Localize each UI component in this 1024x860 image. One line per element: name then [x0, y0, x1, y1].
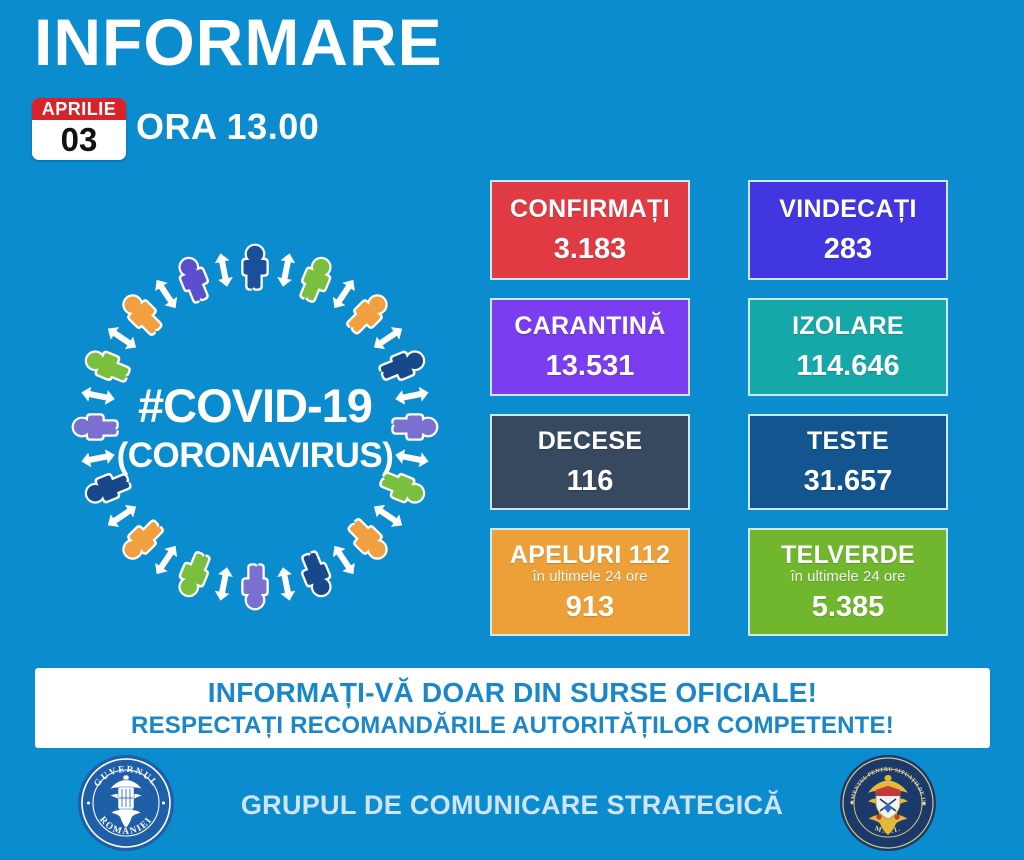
header: INFORMARE APRILIE 03 ORA 13.00 — [0, 0, 1024, 180]
time-label: ORA 13.00 — [136, 106, 319, 148]
stat-value: 13.531 — [546, 352, 635, 381]
stat-value: 31.657 — [804, 467, 893, 496]
stats-grid: CONFIRMAȚI 3.183 VINDECAȚI 283 CARANTINĂ… — [490, 180, 950, 648]
stat-value: 116 — [567, 467, 614, 496]
stat-card-carantina: CARANTINĂ 13.531 — [490, 298, 690, 396]
stat-value: 3.183 — [554, 235, 627, 264]
stat-card-confirmati: CONFIRMAȚI 3.183 — [490, 180, 690, 280]
stat-value: 5.385 — [812, 593, 885, 622]
circle-people-svg — [40, 212, 470, 642]
stat-value: 114.646 — [796, 352, 899, 381]
date-badge-day: 03 — [32, 121, 126, 160]
page-title: INFORMARE — [34, 8, 443, 77]
stat-label: TESTE — [807, 428, 889, 454]
notice-line-1: INFORMAȚI-VĂ DOAR DIN SURSE OFICIALE! — [208, 677, 817, 709]
stat-label: CARANTINĂ — [514, 313, 665, 339]
stat-label: IZOLARE — [792, 313, 904, 339]
stat-sublabel: în ultimele 24 ore — [532, 569, 647, 586]
stat-value: 913 — [566, 593, 614, 622]
stat-card-izolare: IZOLARE 114.646 — [748, 298, 948, 396]
stat-label: VINDECAȚI — [779, 196, 916, 222]
official-sources-notice: INFORMAȚI-VĂ DOAR DIN SURSE OFICIALE! RE… — [35, 668, 990, 748]
stat-value: 283 — [824, 235, 872, 264]
covid-circle-graphic: #COVID-19 (CORONAVIRUS) — [40, 212, 470, 642]
dsu-mai-logo: DEPARTAMENTUL PENTRU SITUAȚII DE URGENȚĂ… — [838, 753, 938, 853]
notice-line-2: RESPECTAȚI RECOMANDĂRILE AUTORITĂȚILOR C… — [131, 712, 894, 740]
date-badge-month: APRILIE — [32, 98, 126, 121]
stat-card-apeluri112: APELURI 112 în ultimele 24 ore 913 — [490, 528, 690, 636]
date-badge: APRILIE 03 — [32, 98, 126, 160]
stat-label: TELVERDE — [781, 542, 915, 568]
stat-card-decese: DECESE 116 — [490, 414, 690, 510]
stat-label: DECESE — [538, 428, 643, 454]
ring-people — [72, 244, 439, 611]
dsu-mai-seal-icon: DEPARTAMENTUL PENTRU SITUAȚII DE URGENȚĂ… — [838, 753, 938, 853]
stat-card-teste: TESTE 31.657 — [748, 414, 948, 510]
stat-card-telverde: TELVERDE în ultimele 24 ore 5.385 — [748, 528, 948, 636]
stat-card-vindecati: VINDECAȚI 283 — [748, 180, 948, 280]
stat-label: APELURI 112 — [510, 542, 670, 568]
stat-sublabel: în ultimele 24 ore — [790, 569, 905, 586]
footer: GUVERNUL ROMÂNIEI GRUPUL DE COMUNICARE S… — [0, 750, 1024, 860]
stat-label: CONFIRMAȚI — [510, 196, 670, 222]
